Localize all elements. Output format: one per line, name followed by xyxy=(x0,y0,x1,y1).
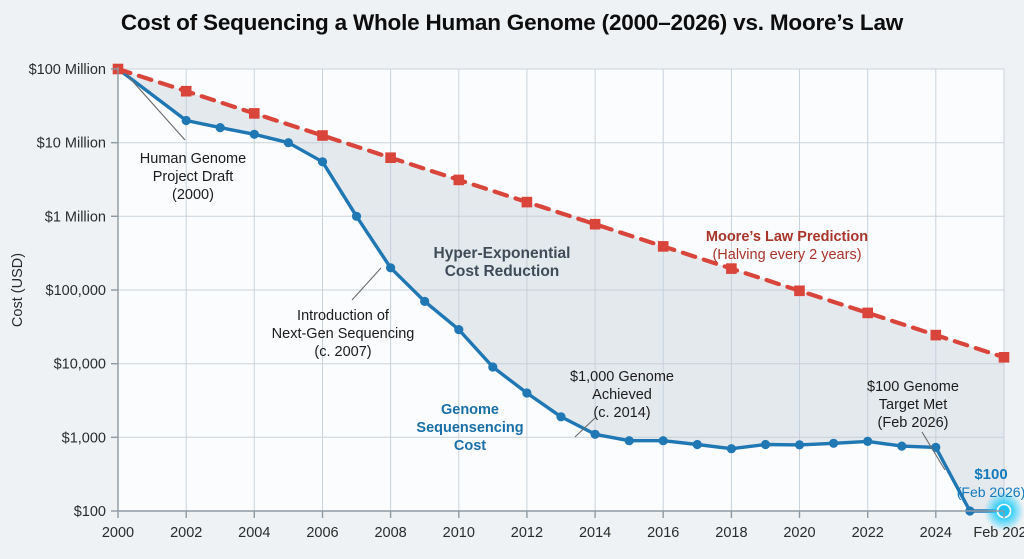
annotation-line: (Halving every 2 years) xyxy=(712,247,861,263)
data-point-marker xyxy=(182,116,191,125)
x-tick-label: 2002 xyxy=(170,525,202,541)
data-point-marker xyxy=(761,440,770,449)
data-point-marker xyxy=(794,286,805,297)
data-point-marker xyxy=(249,108,260,119)
x-tick-label: 2012 xyxy=(511,525,543,541)
data-point-marker xyxy=(318,157,327,166)
data-point-marker xyxy=(386,263,395,272)
data-point-marker xyxy=(727,444,736,453)
data-point-marker xyxy=(250,130,259,139)
data-point-marker xyxy=(454,325,463,334)
annotation-line: Project Draft xyxy=(153,169,234,185)
x-tick-label: 2006 xyxy=(306,525,338,541)
x-tick-label: 2000 xyxy=(102,525,134,541)
data-point-marker xyxy=(556,412,565,421)
data-point-marker xyxy=(216,123,225,132)
annotation-line: Sequensencing xyxy=(416,420,523,436)
annotation-line: $100 xyxy=(974,466,1007,483)
data-point-marker xyxy=(352,212,361,221)
y-tick-label: $1,000 xyxy=(62,430,106,446)
x-tick-label: 2022 xyxy=(852,525,884,541)
annotation-line: Human Genome xyxy=(140,151,246,167)
data-point-marker xyxy=(931,330,942,341)
data-point-marker xyxy=(829,439,838,448)
y-tick-label: $1 Million xyxy=(45,209,106,225)
chart-container: Cost of Sequencing a Whole Human Genome … xyxy=(0,0,1024,559)
data-point-marker xyxy=(999,352,1010,363)
y-tick-label: $100,000 xyxy=(46,283,106,299)
annotation-line: (2000) xyxy=(172,187,214,203)
x-tick-label: 2010 xyxy=(443,525,475,541)
data-point-marker xyxy=(659,436,668,445)
y-tick-label: $100 xyxy=(74,504,106,520)
annotation-line: Achieved xyxy=(592,387,652,403)
data-point-marker xyxy=(591,430,600,439)
data-point-marker xyxy=(625,436,634,445)
data-point-marker xyxy=(522,388,531,397)
data-point-marker xyxy=(317,130,328,141)
data-point-marker xyxy=(181,86,192,97)
annotation-line: (Feb 2026) xyxy=(957,484,1024,500)
x-tick-label: 2020 xyxy=(783,525,815,541)
data-point-marker xyxy=(385,152,396,163)
y-tick-label: $100 Million xyxy=(29,62,106,78)
x-tick-label: 2008 xyxy=(374,525,406,541)
annotation-line: $1,000 Genome xyxy=(570,369,674,385)
annotation-line: Cost xyxy=(454,438,486,454)
annotation-line: Genome xyxy=(441,402,499,418)
annotation-line: $100 Genome xyxy=(867,379,959,395)
x-tick-label: Feb 2026 xyxy=(973,525,1024,541)
cost-of-sequencing-chart: Cost of Sequencing a Whole Human Genome … xyxy=(0,0,1024,559)
data-point-marker xyxy=(897,442,906,451)
data-point-marker xyxy=(795,440,804,449)
chart-title: Cost of Sequencing a Whole Human Genome … xyxy=(121,10,904,35)
data-point-marker xyxy=(658,241,669,252)
x-tick-label: 2016 xyxy=(647,525,679,541)
y-axis-label: Cost (USD) xyxy=(10,253,26,327)
data-point-marker xyxy=(454,175,465,186)
annotation-line: Moore’s Law Prediction xyxy=(706,229,868,245)
data-point-marker xyxy=(488,362,497,371)
x-tick-label: 2004 xyxy=(238,525,270,541)
data-point-marker xyxy=(693,440,702,449)
x-tick-label: 2014 xyxy=(579,525,611,541)
annotation-line: Target Met xyxy=(879,397,948,413)
annotation-hyper-exponential-cost-reduction: Hyper-ExponentialCost Reduction xyxy=(434,245,571,280)
annotation-line: Hyper-Exponential xyxy=(434,245,571,262)
data-point-marker xyxy=(284,138,293,147)
annotation-line: (c. 2014) xyxy=(593,405,650,421)
y-tick-label: $10,000 xyxy=(54,357,106,373)
data-point-marker xyxy=(590,219,601,230)
x-tick-label: 2024 xyxy=(920,525,952,541)
data-point-marker xyxy=(522,197,533,208)
annotation-hundred-dollar-genome: $100 GenomeTarget Met(Feb 2026) xyxy=(867,379,959,431)
annotation-line: Next-Gen Sequencing xyxy=(272,326,415,342)
x-tick-label: 2018 xyxy=(715,525,747,541)
annotation-line: (Feb 2026) xyxy=(878,415,949,431)
annotation-line: (c. 2007) xyxy=(314,344,371,360)
annotation-line: Introduction of xyxy=(297,308,390,324)
data-point-marker xyxy=(863,437,872,446)
data-point-marker xyxy=(420,297,429,306)
data-point-marker xyxy=(931,443,940,452)
data-point-marker xyxy=(862,308,873,319)
y-tick-label: $10 Million xyxy=(37,136,106,152)
data-point-marker xyxy=(726,263,737,274)
annotation-line: Cost Reduction xyxy=(445,263,560,280)
